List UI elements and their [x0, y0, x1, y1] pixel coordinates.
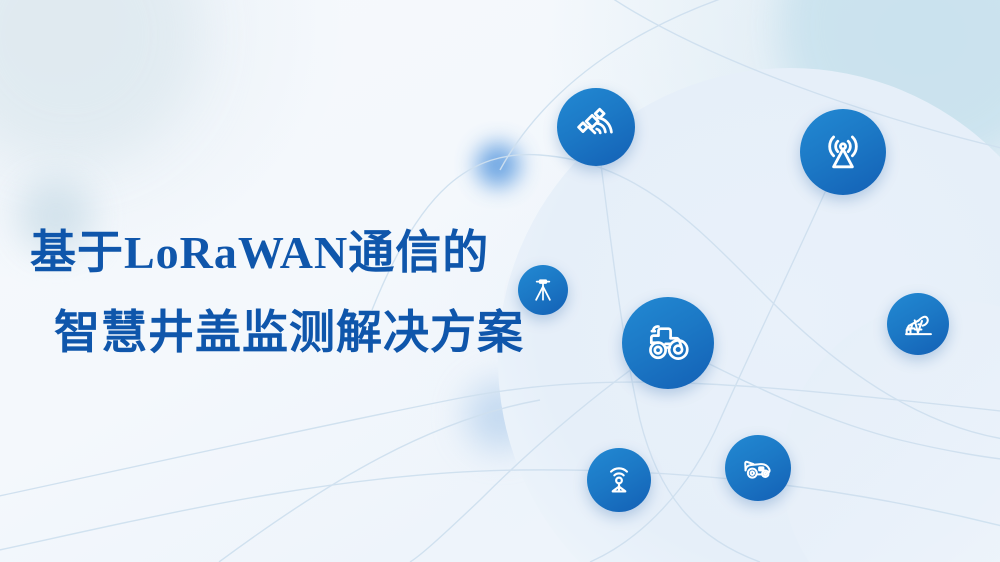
robot-mower-icon	[740, 450, 777, 487]
radio-tower-icon	[819, 128, 867, 176]
dot-upper-mid-decor	[476, 143, 520, 187]
node-mower[interactable]	[725, 435, 791, 501]
dot-lower-right-decor	[901, 455, 973, 527]
satellite-icon	[574, 105, 618, 149]
node-tractor[interactable]	[622, 297, 714, 389]
dot-lower-mid-decor	[466, 382, 534, 450]
tractor-icon	[642, 317, 694, 369]
node-satellite[interactable]	[557, 88, 635, 166]
node-antenna[interactable]	[800, 109, 886, 195]
title-line-1: 基于LoRaWAN通信的	[30, 230, 590, 276]
title-line-2: 智慧井盖监测解决方案	[54, 310, 590, 356]
cover-slide: 基于LoRaWAN通信的 智慧井盖监测解决方案	[0, 0, 1000, 562]
node-pumpjack[interactable]	[887, 293, 949, 355]
wireless-sensor-icon	[601, 462, 637, 498]
node-beacon[interactable]	[587, 448, 651, 512]
blob-top-left-decor	[0, 0, 200, 165]
oil-pumpjack-icon	[901, 307, 936, 342]
page-title: 基于LoRaWAN通信的 智慧井盖监测解决方案	[30, 230, 590, 356]
